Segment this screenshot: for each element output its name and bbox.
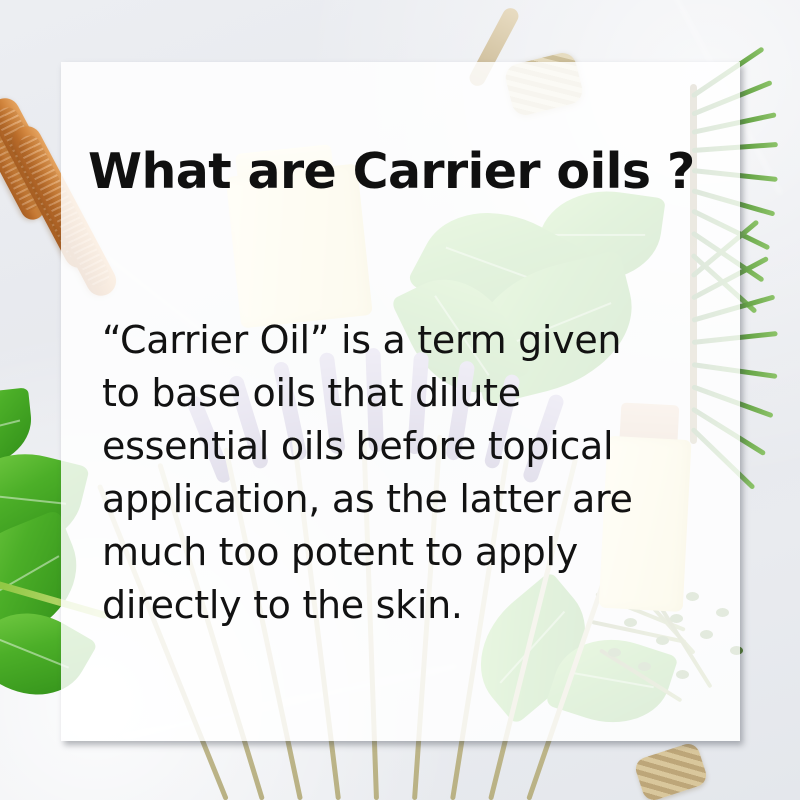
- content-card-inner: What are Carrier oils ? “Carrier Oil” is…: [61, 62, 740, 741]
- body-line: essential oils before topical: [102, 420, 727, 473]
- body-line: “Carrier Oil” is a term given: [102, 314, 727, 367]
- body-line: directly to the skin.: [102, 579, 727, 632]
- body-line: much too potent to apply: [102, 526, 727, 579]
- page-title: What are Carrier oils ?: [88, 146, 695, 198]
- content-card: What are Carrier oils ? “Carrier Oil” is…: [61, 62, 740, 741]
- body-line: to base oils that dilute: [102, 367, 727, 420]
- infographic-canvas: What are Carrier oils ? “Carrier Oil” is…: [0, 0, 800, 800]
- body-line: application, as the latter are: [102, 473, 727, 526]
- body-paragraph: “Carrier Oil” is a term given to base oi…: [102, 314, 727, 632]
